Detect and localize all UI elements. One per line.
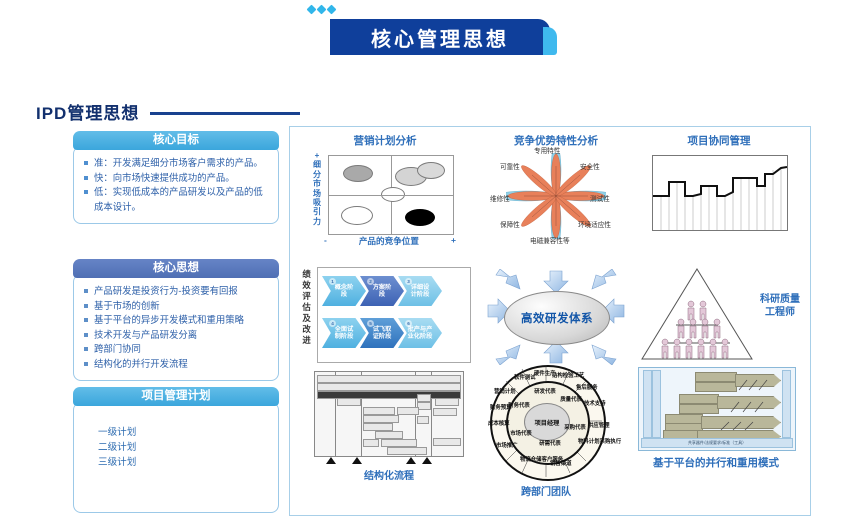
y-axis-label: + 细分市场吸引力	[310, 151, 324, 226]
list-item: 跨部门协同	[84, 342, 270, 357]
gantt-bar	[337, 398, 361, 406]
line-chart-graphic	[652, 155, 788, 231]
card-core-goal: 核心目标 准：开发满足细分市场客户需求的产品。 快：向市场快速提供成功的产品。 …	[73, 131, 279, 224]
step-number: 2	[367, 278, 374, 285]
x-axis-text: 产品的竞争位置	[359, 235, 419, 247]
star-label: 环境适应性	[578, 219, 611, 229]
wheel-inner-label: 质量代表	[560, 397, 582, 403]
card-core-idea: 核心思想 产品研发是投资行为-投资要有回报 基于市场的创新 基于平台的异步开发模…	[73, 259, 279, 381]
competitive-star-chart: 竞争优势特性分析	[476, 133, 636, 148]
gantt-bar	[317, 375, 461, 383]
wheel-outer-label: 硬件生产	[534, 371, 550, 377]
bubble	[417, 162, 445, 179]
card-header: 核心思想	[73, 259, 279, 278]
pyramid-label: 科研质量工程师	[758, 293, 802, 319]
milestone-marker-icon	[352, 457, 362, 464]
platform-caption: 基于平台的并行和重用模式	[628, 455, 804, 470]
card-body: 一级计划 二级计划 三级计划	[73, 402, 279, 513]
star-label: 保障性	[500, 219, 520, 229]
gantt-bar	[363, 439, 379, 447]
section-rule	[150, 112, 300, 115]
gantt-bar	[417, 402, 431, 410]
phase-step[interactable]: 1 概念阶段	[322, 276, 366, 306]
step-label: 试飞取证阶段	[370, 326, 394, 341]
bubble	[341, 206, 373, 225]
list-item: 基于平台的异步开发模式和重用策略	[84, 313, 270, 328]
y-axis-text: 细分市场吸引力	[310, 160, 324, 226]
wheel-inner-label: 研发代表	[532, 389, 558, 395]
wheel-inner-label: 研需代表	[538, 441, 562, 447]
gantt-bar	[381, 439, 417, 447]
wheel-outer-label: 营销计划	[494, 389, 512, 395]
wheel-outer-label: 成本核算	[488, 421, 506, 427]
bubble	[381, 187, 405, 202]
gantt-bar	[417, 416, 429, 424]
card-header: 项目管理计划	[73, 387, 279, 406]
star-graphic: 专用特性 安全性 测试性 环境适应性 电磁兼容性等 保障性 维修性 可靠性	[506, 153, 606, 239]
card-header: 核心目标	[73, 131, 279, 150]
hub-label: 高效研发体系	[504, 291, 610, 345]
list-item: 快：向市场快速提供成功的产品。	[84, 171, 270, 186]
phase-step[interactable]: 4 全面试制阶段	[322, 318, 366, 348]
y-axis-plus: +	[310, 151, 324, 160]
card-body: 产品研发是投资行为-投资要有回报 基于市场的创新 基于平台的异步开发模式和重用策…	[73, 274, 279, 381]
phases-side-label: 绩效评估及改进	[300, 269, 313, 346]
milestone-marker-icon	[406, 457, 416, 464]
x-axis-labels: - 产品的竞争位置 +	[324, 235, 456, 247]
list-item: 基于市场的创新	[84, 299, 270, 314]
chart-title: 营销计划分析	[300, 133, 470, 148]
gantt-bar	[387, 447, 427, 455]
phase-step[interactable]: 2 方案阶段	[360, 276, 404, 306]
step-number: 1	[329, 278, 336, 285]
list-item: 技术开发与产品研发分离	[84, 328, 270, 343]
gantt-bar	[435, 398, 459, 406]
step-number: 4	[329, 320, 336, 327]
wheel-outer-label: 财务预算	[490, 405, 508, 411]
step-label: 方案阶段	[370, 284, 394, 299]
quadrant-grid	[328, 155, 454, 235]
bubble	[343, 165, 373, 182]
phase-step[interactable]: 3 详细设计阶段	[398, 276, 442, 306]
gantt-graphic	[314, 371, 464, 457]
step-label: 详细设计阶段	[408, 284, 432, 299]
gantt-bar	[433, 438, 461, 446]
x-axis-minus: -	[324, 235, 327, 247]
chart-title: 项目协同管理	[638, 133, 800, 148]
gantt-bar	[363, 415, 399, 423]
star-label: 可靠性	[500, 161, 520, 171]
plan-level: 二级计划	[84, 440, 270, 455]
gantt-bar	[317, 383, 461, 391]
wheel-outer-label: 结构检验工艺	[552, 373, 572, 379]
wheel-caption: 跨部门团队	[466, 483, 626, 498]
platform-bottom-bar: 共享器件/法规要求/标准（工具）	[641, 438, 793, 448]
step-number: 5	[367, 320, 374, 327]
milestone-marker-icon	[326, 457, 336, 464]
star-label: 安全性	[580, 161, 600, 171]
list-item: 结构化的并行开发流程	[84, 357, 270, 372]
section-title: IPD管理思想	[36, 99, 139, 124]
gantt-bar	[397, 407, 419, 415]
diagram-panel: 营销计划分析 + 细分市场吸引力 - 产品的竞争位置 + 竞争优势特性分析	[289, 126, 811, 516]
gantt-bar	[375, 431, 403, 439]
wheel-outer-label: 售后服务	[576, 385, 594, 391]
project-coordination-chart: 项目协同管理	[638, 133, 800, 148]
x-axis-plus: +	[451, 235, 456, 247]
star-label: 专用特性	[534, 145, 560, 155]
list-item: 低：实现低成本的产品研发以及产品的低成本设计。	[84, 185, 270, 214]
wheel-inner-label: 市场代表	[510, 431, 532, 437]
wheel-outer-label: 物流仓储客户服务	[520, 457, 540, 463]
plan-level: 三级计划	[84, 455, 270, 470]
plan-level: 一级计划	[84, 425, 270, 440]
wheel-outer-label: 供应管理	[588, 423, 604, 429]
wheel-inner-label: 采购代表	[564, 425, 586, 431]
platform-graphic: 共享器件/法规要求/标准（工具）	[638, 367, 796, 451]
gantt-bar	[417, 394, 431, 402]
step-label: 全面试制阶段	[332, 326, 356, 341]
wheel-outer-label: 市场推广	[496, 443, 514, 449]
center-hub: 高效研发体系	[486, 269, 626, 365]
wheel-outer-label: 软件测试	[514, 375, 532, 381]
card-project-plan: 项目管理计划 一级计划 二级计划 三级计划	[73, 387, 279, 513]
page-banner-title: 核心管理思想	[330, 19, 550, 55]
star-label: 电磁兼容性等	[530, 235, 570, 245]
star-label: 维修性	[490, 193, 510, 203]
wheel-outer-label: 物料计划采购执行	[578, 439, 598, 445]
step-number: 6	[405, 320, 412, 327]
card-body: 准：开发满足细分市场客户需求的产品。 快：向市场快速提供成功的产品。 低：实现低…	[73, 146, 279, 224]
list-item: 产品研发是投资行为-投资要有回报	[84, 284, 270, 299]
wheel-outer-label: 技术支持	[584, 401, 600, 407]
milestone-marker-icon	[422, 457, 432, 464]
gantt-bar	[433, 408, 457, 416]
list-item: 准：开发满足细分市场客户需求的产品。	[84, 156, 270, 171]
gantt-bar	[363, 407, 395, 415]
phase-step[interactable]: 6 批产与产业化阶段	[398, 318, 442, 348]
star-label: 测试性	[590, 193, 610, 203]
diamond-dots-icon	[308, 6, 335, 13]
marketing-analysis-chart: 营销计划分析 + 细分市场吸引力 - 产品的竞争位置 +	[300, 133, 470, 148]
gantt-bar	[363, 423, 393, 431]
phase-step[interactable]: 5 试飞取证阶段	[360, 318, 404, 348]
step-label: 概念阶段	[332, 284, 356, 299]
phases-frame: 1 概念阶段 2 方案阶段 3 详细设计阶段 4 全面试制阶段 5 试飞取证阶段…	[317, 267, 471, 363]
bubble	[405, 209, 435, 226]
step-number: 3	[405, 278, 412, 285]
gantt-caption: 结构化流程	[304, 467, 474, 482]
banner-accent-tail	[543, 27, 557, 55]
step-label: 批产与产业化阶段	[407, 326, 433, 341]
